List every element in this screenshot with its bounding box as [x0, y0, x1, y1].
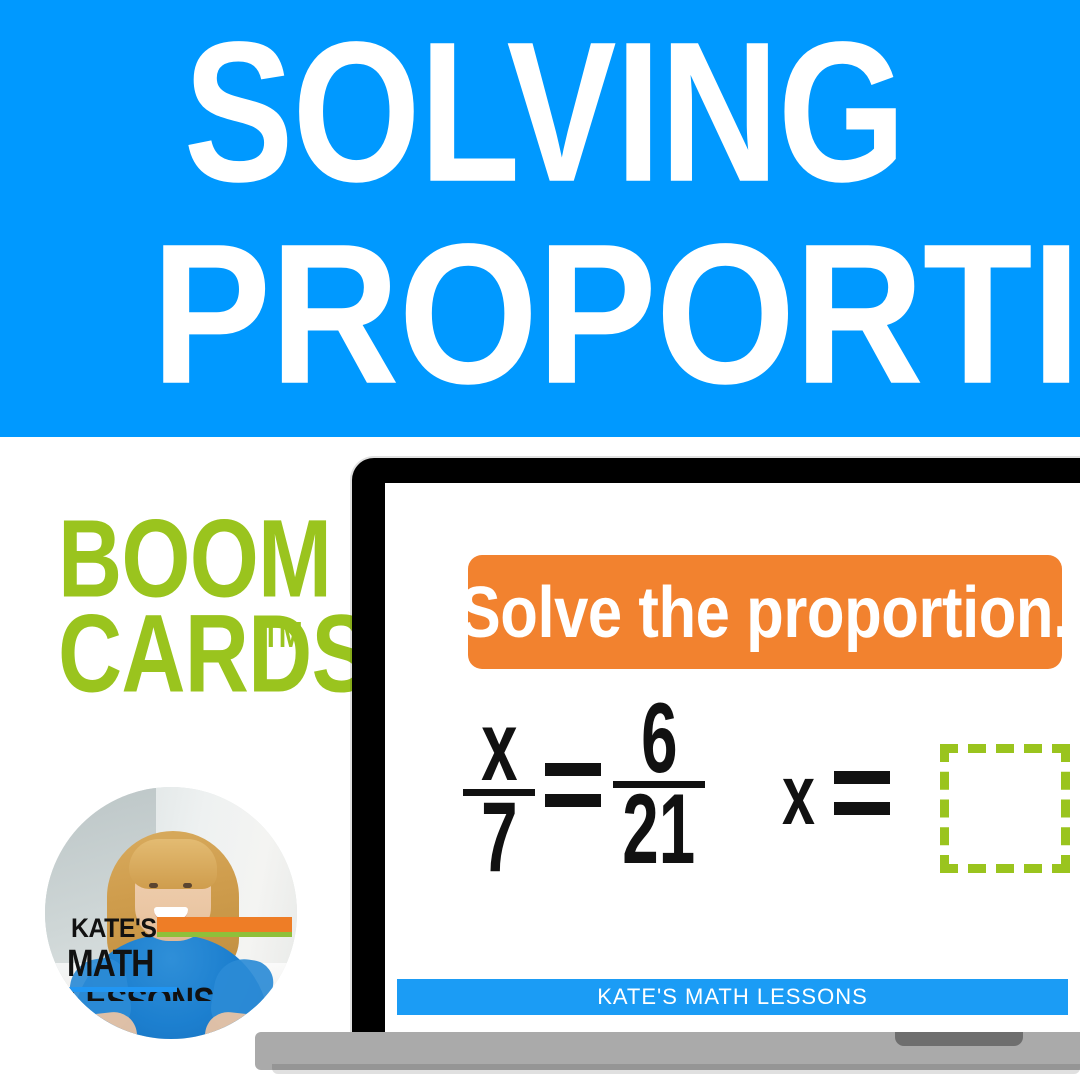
logo-orange-bar: [157, 917, 292, 932]
logo-blue-bar: [67, 987, 177, 992]
laptop-mockup: Solve the proportion. x 7 6 21: [352, 458, 1080, 1080]
prompt-banner: Solve the proportion.: [468, 555, 1062, 669]
logo-green-bar: [157, 932, 292, 937]
poster-canvas: SOLVING PROPORTIONS BOOM CARDS TM KATE'S: [0, 0, 1080, 1080]
avatar-eye-right: [183, 883, 192, 888]
answer-group: x: [778, 711, 1078, 881]
answer-variable-label: x: [782, 756, 815, 833]
answer-equals-bar-bottom: [834, 802, 890, 815]
answer-input-box[interactable]: [940, 744, 1070, 873]
logo-row-top: KATE'S: [71, 915, 297, 945]
prompt-text: Solve the proportion.: [460, 576, 1070, 649]
card-footer-text: KATE'S MATH LESSONS: [597, 984, 868, 1010]
header-banner: SOLVING PROPORTIONS: [0, 0, 1080, 437]
logo-kates-text: KATE'S: [71, 915, 157, 942]
laptop-base-notch: [895, 1032, 1023, 1046]
avatar: KATE'S MATH LESSONS: [45, 787, 297, 1039]
answer-equals-sign: [834, 771, 890, 817]
avatar-eye-left: [149, 883, 158, 888]
page-title-line-1: SOLVING: [184, 12, 897, 212]
equals-bar-bottom: [545, 794, 601, 807]
equation-equals-sign: [545, 763, 601, 809]
card-footer-bar: KATE'S MATH LESSONS: [397, 979, 1068, 1015]
fraction-left-numerator: x: [481, 702, 517, 791]
laptop-screen: Solve the proportion. x 7 6 21: [385, 483, 1080, 1032]
fraction-left: x 7: [463, 709, 535, 875]
page-title-line-2: PROPORTIONS: [151, 214, 929, 414]
kates-math-lessons-logo: KATE'S MATH LESSONS: [45, 915, 297, 1001]
boom-cards-logo: BOOM CARDS: [58, 512, 348, 712]
avatar-hair-front: [129, 839, 217, 889]
boom-logo-line-2: CARDS: [58, 607, 370, 702]
fraction-right-denominator: 21: [623, 785, 696, 874]
equation-area: x 7 6 21 x: [385, 701, 1080, 901]
logo-math-lessons-text: MATH LESSONS: [67, 945, 260, 1001]
fraction-right: 6 21: [613, 701, 705, 867]
laptop-base-shadow: [272, 1064, 1080, 1074]
equals-bar-top: [545, 763, 601, 776]
trademark-symbol: TM: [262, 617, 302, 653]
answer-equals-bar-top: [834, 771, 890, 784]
fraction-left-denominator: 7: [481, 793, 517, 882]
fraction-right-numerator: 6: [641, 694, 677, 783]
